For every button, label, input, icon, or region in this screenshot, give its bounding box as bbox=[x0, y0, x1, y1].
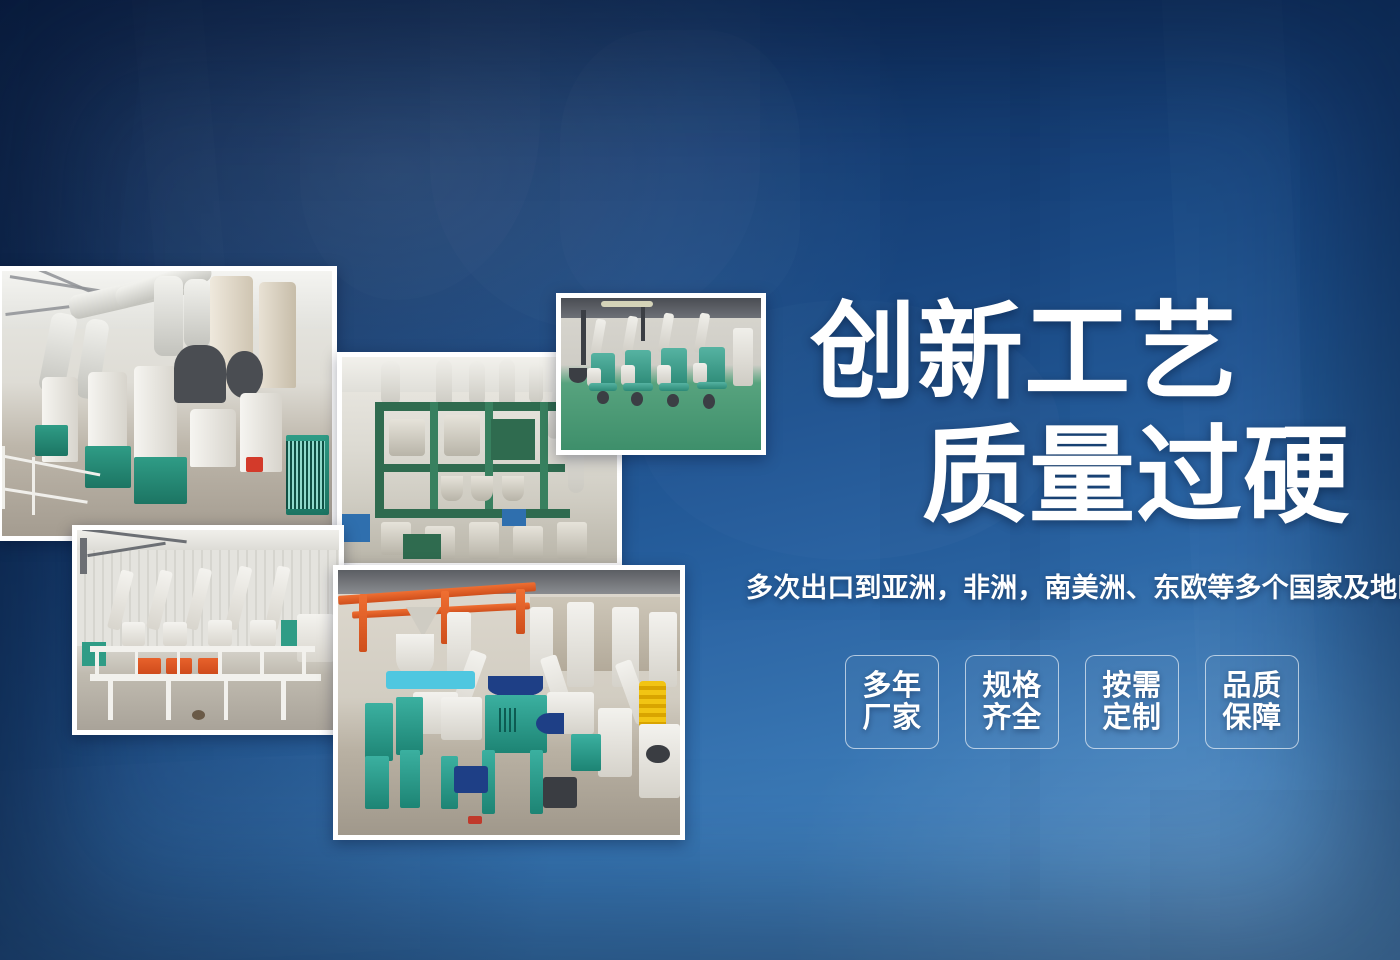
badge-full-specifications[interactable]: 规格 齐全 bbox=[965, 655, 1059, 749]
headline-line-1: 创新工艺 bbox=[810, 300, 1238, 406]
badge-line-2: 保障 bbox=[1222, 702, 1281, 734]
badge-line-2: 定制 bbox=[1102, 702, 1161, 734]
badge-custom-on-demand[interactable]: 按需 定制 bbox=[1085, 655, 1179, 749]
badge-line-2: 齐全 bbox=[982, 702, 1041, 734]
banner-stage: 创新工艺 质量过硬 多次出口到亚洲，非洲，南美洲、东欧等多个国家及地区 多年 厂… bbox=[0, 0, 1400, 960]
photo-white-production-line bbox=[72, 525, 344, 735]
badge-line-1: 规格 bbox=[982, 670, 1041, 702]
badge-years-manufacturer[interactable]: 多年 厂家 bbox=[845, 655, 939, 749]
badge-quality-guarantee[interactable]: 品质 保障 bbox=[1205, 655, 1299, 749]
badge-line-1: 品质 bbox=[1222, 670, 1281, 702]
headline-line-2: 质量过硬 bbox=[922, 424, 1350, 530]
photo-flour-mill-line-grey bbox=[0, 266, 337, 541]
banner-subtitle: 多次出口到亚洲，非洲，南美洲、东欧等多个国家及地区 bbox=[746, 566, 1400, 605]
badge-line-1: 按需 bbox=[1102, 670, 1161, 702]
badge-line-1: 多年 bbox=[862, 670, 921, 702]
feature-badge-list: 多年 厂家 规格 齐全 按需 定制 品质 保障 bbox=[845, 655, 1299, 749]
photo-teal-mills-green-floor bbox=[556, 293, 766, 455]
badge-line-2: 厂家 bbox=[862, 702, 921, 734]
photo-teal-mills-orange-beams bbox=[333, 565, 685, 840]
